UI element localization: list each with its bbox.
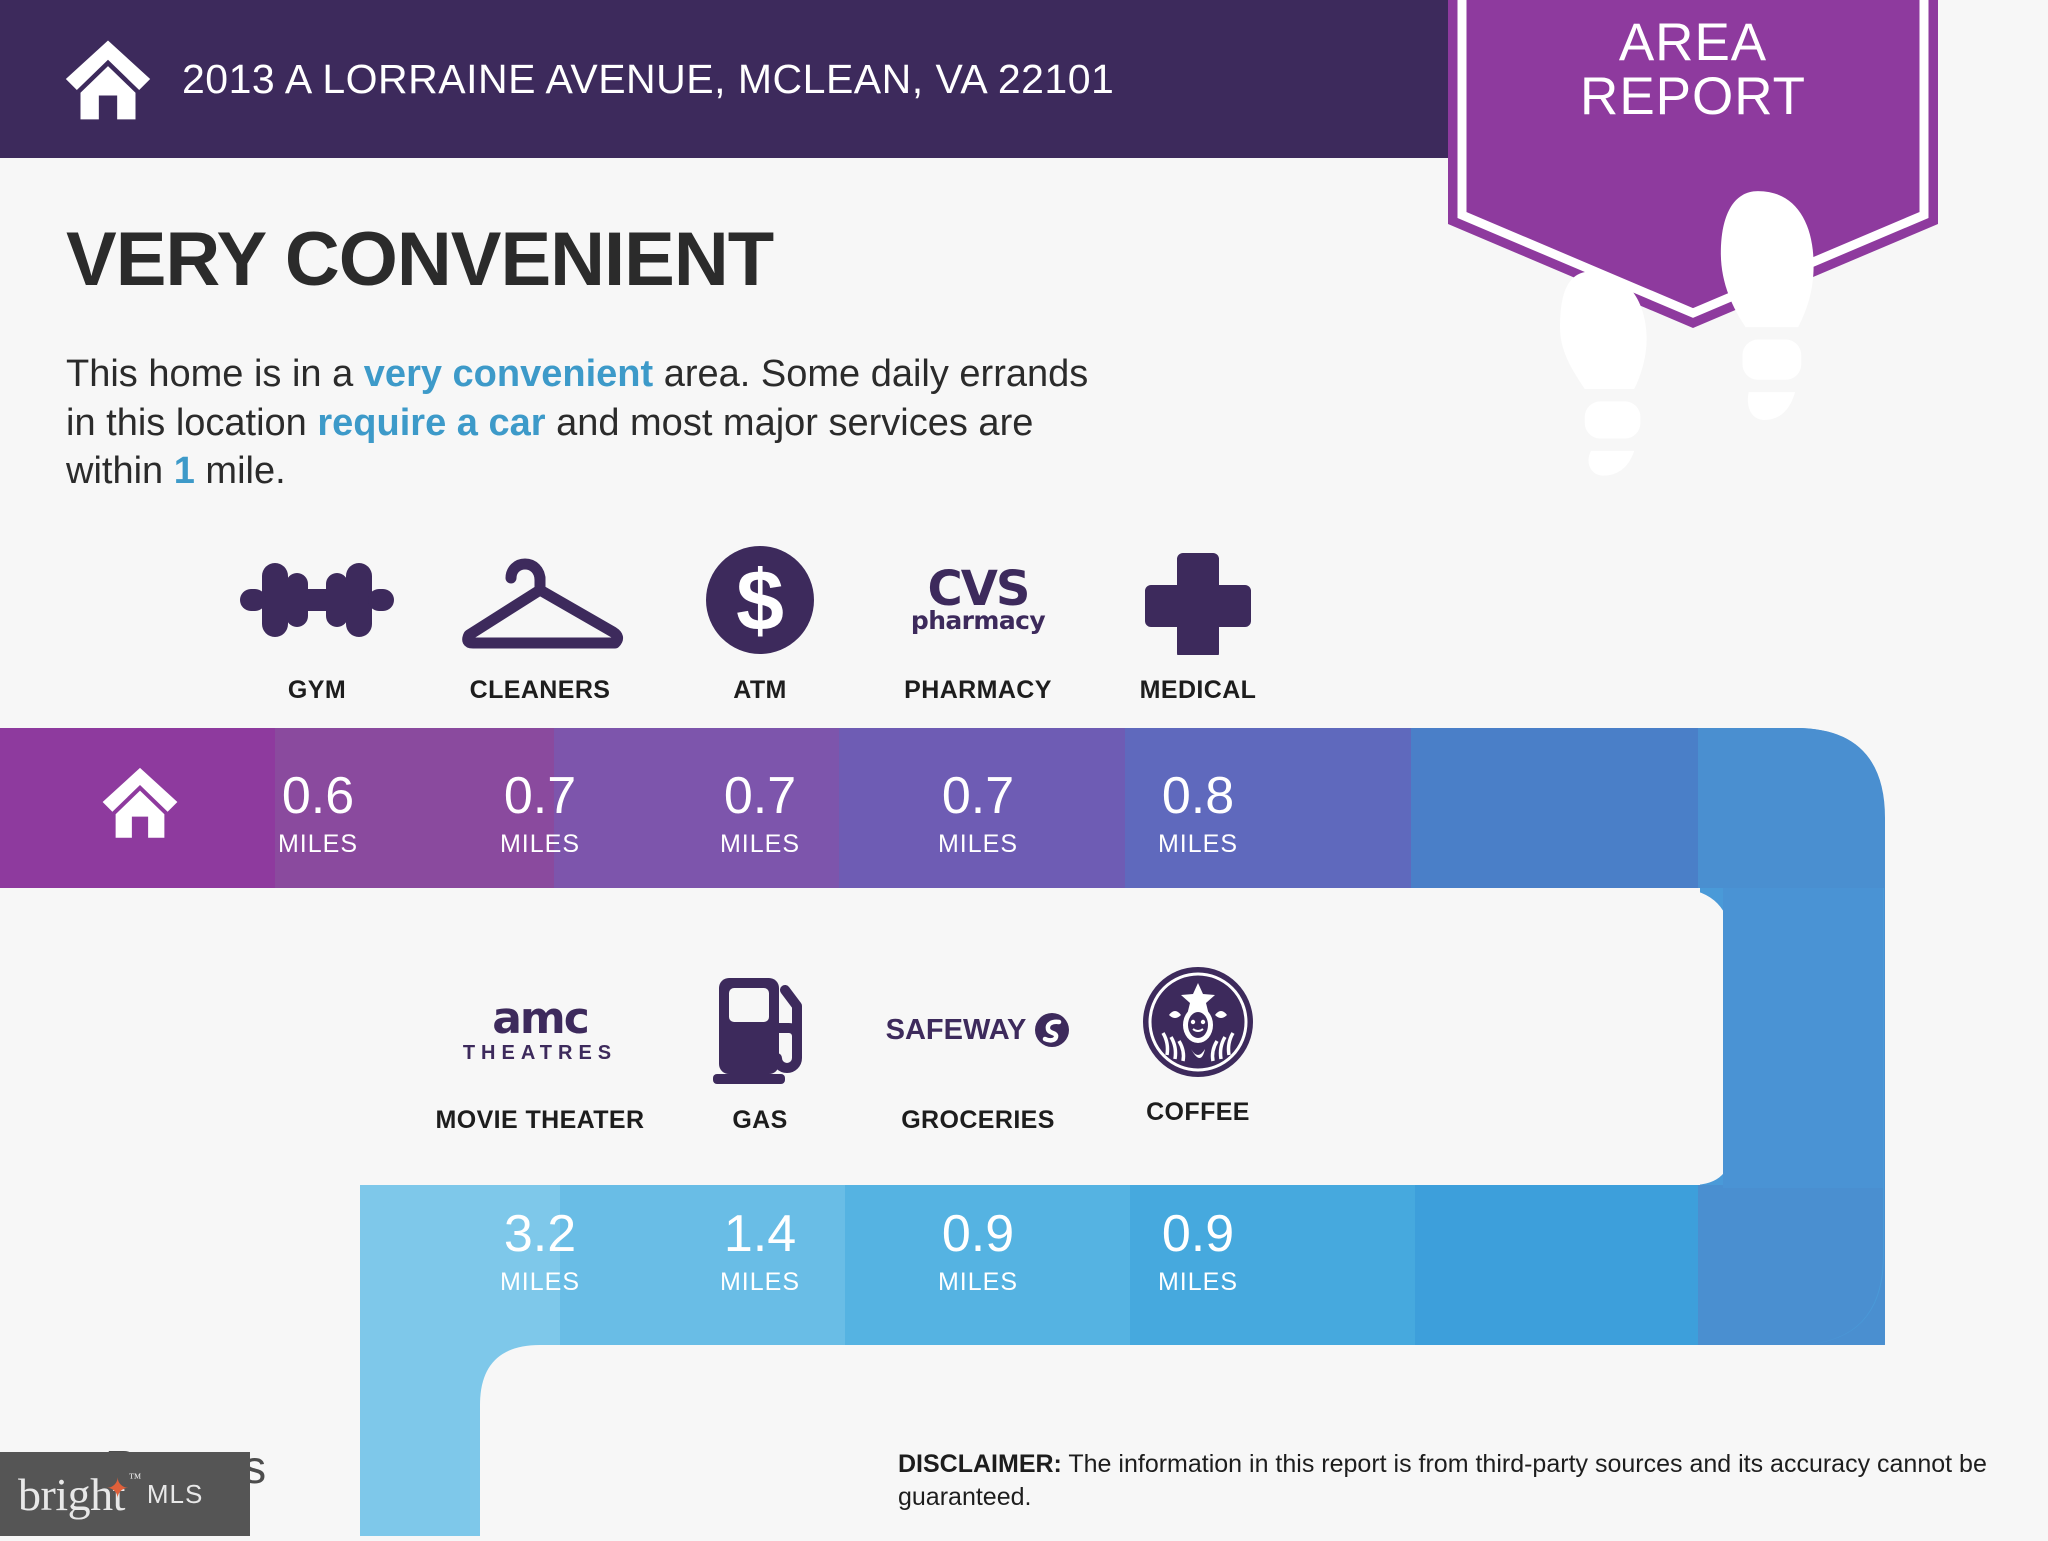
header-bar: 2013 A LORRAINE AVENUE, MCLEAN, VA 22101 <box>0 0 1455 158</box>
distance-unit: MILES <box>650 830 870 859</box>
hanger-glyph <box>455 544 625 656</box>
amc-logo-line-2: THEATRES <box>463 1043 617 1063</box>
safeway-logo-mark: SAFEWAY <box>886 1012 1071 1048</box>
medical-cross-glyph <box>1143 545 1253 655</box>
distance-coffee: 0.9 MILES <box>1088 1208 1308 1297</box>
distance-unit: MILES <box>1088 1268 1308 1297</box>
disclaimer-label: DISCLAIMER: <box>898 1450 1062 1478</box>
amenity-cleaners: CLEANERS <box>430 540 650 705</box>
band-segment-medical <box>1411 728 1698 888</box>
gas-pump-icon <box>650 970 870 1090</box>
badge-line-2: REPORT <box>1448 70 1938 124</box>
dollar-coin-glyph: $ <box>700 540 820 660</box>
disclaimer: DISCLAIMER: The information in this repo… <box>898 1448 1988 1513</box>
distance-value: 0.9 <box>1088 1208 1308 1260</box>
distance-value: 0.8 <box>1088 770 1308 822</box>
safeway-swirl-icon <box>1034 1012 1070 1048</box>
amenity-label: GROCERIES <box>868 1106 1088 1135</box>
amenity-label: ATM <box>650 676 870 705</box>
amenity-pharmacy: CVS pharmacy PHARMACY <box>868 540 1088 705</box>
starbucks-logo <box>1088 962 1308 1082</box>
bright-mls-tm: ™ <box>129 1470 141 1486</box>
amenity-movie-theater: amc THEATRES MOVIE THEATER <box>430 970 650 1135</box>
cvs-logo-mark: CVS pharmacy <box>911 569 1045 630</box>
distance-unit: MILES <box>1088 830 1308 859</box>
amc-logo-mark: amc THEATRES <box>463 997 617 1063</box>
svg-text:$: $ <box>736 553 784 649</box>
distance-unit: MILES <box>868 1268 1088 1297</box>
disclaimer-text: The information in this report is from t… <box>898 1450 1987 1511</box>
gas-pump-glyph <box>705 970 815 1090</box>
safeway-logo: SAFEWAY <box>868 970 1088 1090</box>
amenity-label: PHARMACY <box>868 676 1088 705</box>
distance-unit: MILES <box>650 1268 870 1297</box>
band-right-mid <box>1723 888 1883 1188</box>
distance-gym: 0.6 MILES <box>208 770 428 859</box>
footprints-icon <box>1448 154 1938 488</box>
distance-cleaners: 0.7 MILES <box>430 770 650 859</box>
distance-medical: 0.8 MILES <box>1088 770 1308 859</box>
distance-value: 0.9 <box>868 1208 1088 1260</box>
distance-gas: 1.4 MILES <box>650 1208 870 1297</box>
amenity-label: MOVIE THEATER <box>430 1106 650 1135</box>
distance-value: 0.6 <box>208 770 428 822</box>
cvs-logo-line-1: CVS <box>911 569 1045 609</box>
area-report-badge: AREA REPORT <box>1448 0 1938 328</box>
distance-unit: MILES <box>430 830 650 859</box>
distance-groceries: 0.9 MILES <box>868 1208 1088 1297</box>
badge-title: AREA REPORT <box>1448 16 1938 124</box>
amenity-gas: GAS <box>650 970 870 1135</box>
amenity-groceries: SAFEWAY GROCERIES <box>868 970 1088 1135</box>
hanger-icon <box>430 540 650 660</box>
cvs-pharmacy-logo: CVS pharmacy <box>868 540 1088 660</box>
property-address: 2013 A LORRAINE AVENUE, MCLEAN, VA 22101 <box>182 56 1114 103</box>
amenity-medical: MEDICAL <box>1088 540 1308 705</box>
distance-value: 3.2 <box>430 1208 650 1260</box>
amenity-label: COFFEE <box>1088 1098 1308 1127</box>
home-icon-band <box>98 763 182 841</box>
amenity-label: GAS <box>650 1106 870 1135</box>
starbucks-siren-glyph <box>1139 963 1257 1081</box>
dollar-coin-icon: $ <box>650 540 870 660</box>
distance-atm: 0.7 MILES <box>650 770 870 859</box>
bright-mls-star-icon: ✦ <box>106 1476 129 1504</box>
badge-line-1: AREA <box>1448 16 1938 70</box>
distance-movie-theater: 3.2 MILES <box>430 1208 650 1297</box>
amc-logo-line-1: amc <box>463 997 617 1041</box>
bright-mls-mls-text: MLS <box>147 1479 203 1510</box>
dumbbell-icon <box>207 540 427 660</box>
amenity-gym: GYM <box>207 540 427 705</box>
distance-unit: MILES <box>430 1268 650 1297</box>
distance-unit: MILES <box>868 830 1088 859</box>
distance-unit: MILES <box>208 830 428 859</box>
amenity-label: GYM <box>207 676 427 705</box>
distance-value: 0.7 <box>650 770 870 822</box>
medical-cross-icon <box>1088 540 1308 660</box>
safeway-logo-text: SAFEWAY <box>886 1014 1027 1047</box>
amenity-atm: $ ATM <box>650 540 870 705</box>
bright-mls-watermark: bright✦™ MLS <box>0 1452 250 1536</box>
amc-theatres-logo: amc THEATRES <box>430 970 650 1090</box>
amenity-label: CLEANERS <box>430 676 650 705</box>
cvs-logo-line-2: pharmacy <box>911 610 1045 631</box>
distance-value: 0.7 <box>430 770 650 822</box>
amenity-coffee: COFFEE <box>1088 962 1308 1127</box>
band-segment-coffee <box>1415 1185 1700 1345</box>
home-icon <box>62 35 154 123</box>
distance-pharmacy: 0.7 MILES <box>868 770 1088 859</box>
bright-mls-wordmark: bright✦™ <box>18 1468 125 1521</box>
amenity-label: MEDICAL <box>1088 676 1308 705</box>
dumbbell-glyph <box>232 545 402 655</box>
distance-value: 0.7 <box>868 770 1088 822</box>
distance-value: 1.4 <box>650 1208 870 1260</box>
